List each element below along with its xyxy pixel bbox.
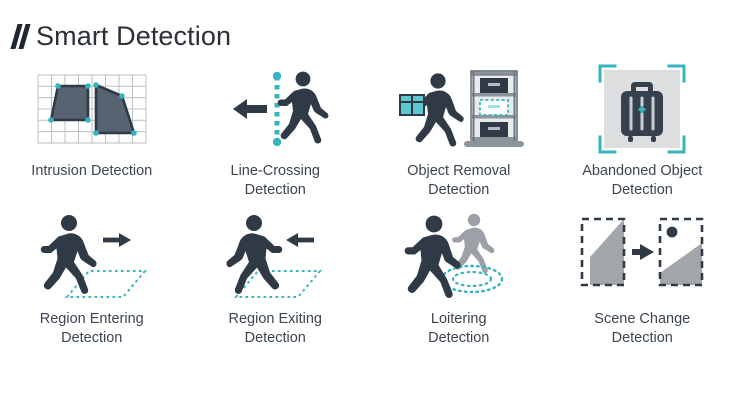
running-person-icon xyxy=(41,215,97,294)
feature-abandoned-object-detection[interactable]: Abandoned Object Detection xyxy=(551,60,734,208)
page-title: Smart Detection xyxy=(36,23,231,50)
accent-bars-icon xyxy=(14,24,27,49)
box-bottom xyxy=(480,122,508,137)
person-carrying-box-icon xyxy=(400,73,464,146)
suitcase-icon xyxy=(621,82,663,142)
abandoned-object-icon xyxy=(551,60,734,158)
feature-label: Scene Change Detection xyxy=(594,310,690,348)
line-crossing-icon xyxy=(184,60,368,158)
feature-object-removal-detection[interactable]: Object Removal Detection xyxy=(367,60,551,208)
feature-label: Intrusion Detection xyxy=(31,162,152,181)
feature-label: Object Removal Detection xyxy=(407,162,510,200)
feature-line-crossing-detection[interactable]: Line-Crossing Detection xyxy=(184,60,368,208)
feature-label: Region Entering Detection xyxy=(40,310,144,348)
feature-label: Abandoned Object Detection xyxy=(582,162,702,200)
dotted-vertical-line xyxy=(273,72,281,146)
page-header: Smart Detection xyxy=(0,0,734,56)
walking-person-dark-icon xyxy=(404,216,460,298)
feature-label: Line-Crossing Detection xyxy=(231,162,320,200)
object-removal-icon xyxy=(367,60,551,158)
feature-intrusion-detection[interactable]: Intrusion Detection xyxy=(0,60,184,208)
right-arrow-icon xyxy=(103,233,131,247)
carried-box xyxy=(400,95,424,115)
running-person-icon xyxy=(227,215,283,294)
shelf-rack-icon xyxy=(464,71,524,147)
change-dot xyxy=(667,227,678,238)
grid-with-polygons-icon xyxy=(0,60,184,158)
feature-label: Region Exiting Detection xyxy=(229,310,323,348)
region-entering-icon xyxy=(0,208,184,306)
dashed-frame-before xyxy=(582,219,624,285)
feature-region-exiting-detection[interactable]: Region Exiting Detection xyxy=(184,208,368,356)
running-person-icon xyxy=(278,72,329,144)
loitering-icon xyxy=(367,208,551,306)
dashed-missing-box xyxy=(480,100,508,115)
feature-loitering-detection[interactable]: Loitering Detection xyxy=(367,208,551,356)
feature-label: Loitering Detection xyxy=(428,310,489,348)
feature-scene-change-detection[interactable]: Scene Change Detection xyxy=(551,208,734,356)
feature-region-entering-detection[interactable]: Region Entering Detection xyxy=(0,208,184,356)
detection-feature-grid: Intrusion Detection xyxy=(0,60,734,356)
left-arrow-icon xyxy=(286,233,314,247)
dashed-frame-after xyxy=(660,219,702,285)
scene-change-icon xyxy=(551,208,734,306)
arrow-right-icon xyxy=(632,244,654,260)
dotted-oval-region xyxy=(442,266,502,292)
region-exiting-icon xyxy=(184,208,368,306)
box-top xyxy=(480,78,508,93)
left-arrow-icon xyxy=(233,99,267,119)
smart-detection-page: Smart Detection xyxy=(0,0,734,416)
